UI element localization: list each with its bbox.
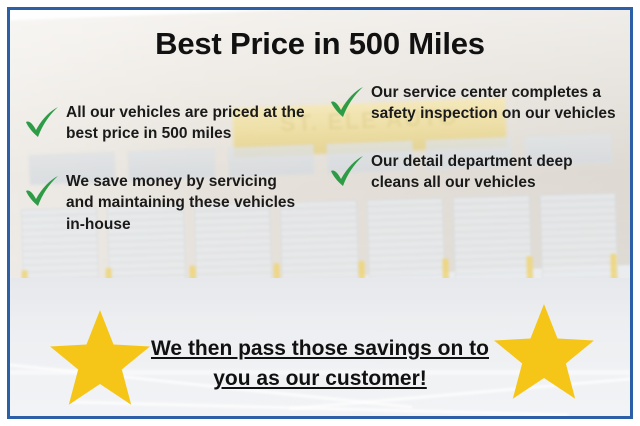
bullet-columns: All our vehicles are priced at the best … bbox=[22, 82, 624, 261]
bullet-item: All our vehicles are priced at the best … bbox=[22, 102, 319, 145]
bullet-text: Our service center completes a safety in… bbox=[371, 82, 619, 125]
bullet-item: Our detail department deep cleans all ou… bbox=[327, 151, 624, 194]
bullet-item: Our service center completes a safety in… bbox=[327, 82, 624, 125]
check-icon bbox=[22, 173, 62, 211]
banner-content: Best Price in 500 Miles All our vehicles… bbox=[10, 10, 630, 416]
check-icon bbox=[22, 104, 62, 142]
bullet-column-right: Our service center completes a safety in… bbox=[323, 82, 624, 261]
bullet-text: We save money by servicing and maintaini… bbox=[66, 171, 306, 235]
banner-title: Best Price in 500 Miles bbox=[10, 26, 630, 62]
check-icon bbox=[327, 153, 367, 191]
bullet-text: All our vehicles are priced at the best … bbox=[66, 102, 306, 145]
bullet-text: Our detail department deep cleans all ou… bbox=[371, 151, 619, 194]
banner-frame: ST. ELE AUTO bbox=[7, 7, 633, 419]
promo-banner: ST. ELE AUTO bbox=[0, 0, 640, 426]
bullet-column-left: All our vehicles are priced at the best … bbox=[22, 82, 323, 261]
check-icon bbox=[327, 84, 367, 122]
bullet-item: We save money by servicing and maintaini… bbox=[22, 171, 319, 235]
tagline-text: We then pass those savings on to you as … bbox=[130, 334, 510, 394]
